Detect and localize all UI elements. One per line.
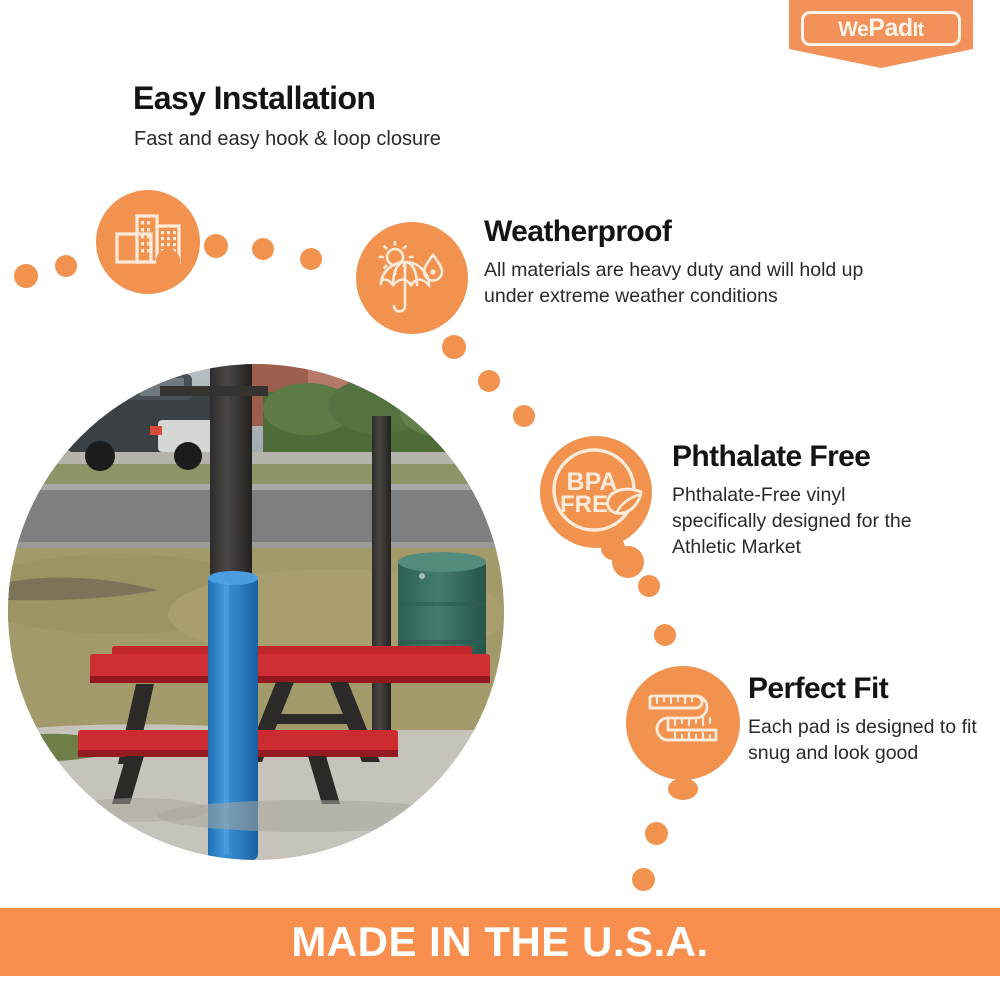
feature-title-perfect-fit: Perfect Fit bbox=[748, 672, 888, 706]
trail-dot bbox=[638, 575, 660, 597]
trail-dot bbox=[645, 822, 668, 845]
building-installation-icon bbox=[96, 190, 200, 294]
trail-dot bbox=[156, 249, 180, 273]
brand-logo-text: WePadIt bbox=[838, 14, 924, 43]
feature-description-weatherproof: All materials are heavy duty and will ho… bbox=[484, 257, 904, 309]
trail-dot bbox=[632, 868, 655, 891]
brand-logo-frame: WePadIt bbox=[801, 11, 961, 46]
measuring-tape-icon-nub bbox=[668, 778, 698, 800]
feature-title-easy-installation: Easy Installation bbox=[133, 80, 375, 117]
feature-title-weatherproof: Weatherproof bbox=[484, 215, 671, 249]
product-photo-image bbox=[8, 364, 504, 860]
product-photo bbox=[8, 364, 504, 860]
logo-text-it: It bbox=[913, 19, 924, 42]
logo-text-we: We bbox=[838, 18, 868, 42]
bpa-free-leaf-icon: BPA FREE bbox=[540, 436, 652, 548]
made-in-usa-banner: MADE IN THE U.S.A. bbox=[0, 908, 1000, 976]
trail-dot bbox=[601, 536, 625, 560]
infographic-page: WePadIt Easy Installation Fast and easy … bbox=[0, 0, 1000, 987]
feature-title-phthalate-free: Phthalate Free bbox=[672, 440, 870, 474]
trail-dot bbox=[55, 255, 77, 277]
umbrella-sun-raindrop-icon bbox=[356, 222, 468, 334]
trail-dot bbox=[14, 264, 38, 288]
feature-description-easy-installation: Fast and easy hook & loop closure bbox=[134, 126, 554, 153]
trail-dot bbox=[442, 335, 466, 359]
trail-dot bbox=[252, 238, 274, 260]
feature-description-phthalate-free: Phthalate-Free vinyl specifically design… bbox=[672, 482, 942, 560]
trail-dot bbox=[654, 624, 676, 646]
trail-dot bbox=[204, 234, 228, 258]
feature-description-perfect-fit: Each pad is designed to fit snug and loo… bbox=[748, 714, 980, 766]
brand-logo-badge: WePadIt bbox=[789, 0, 973, 68]
trail-dot bbox=[300, 248, 322, 270]
logo-text-pad: Pad bbox=[868, 14, 912, 43]
trail-dot bbox=[513, 405, 535, 427]
trail-dot bbox=[478, 370, 500, 392]
made-in-usa-text: MADE IN THE U.S.A. bbox=[291, 918, 708, 966]
measuring-tape-icon bbox=[626, 666, 740, 780]
